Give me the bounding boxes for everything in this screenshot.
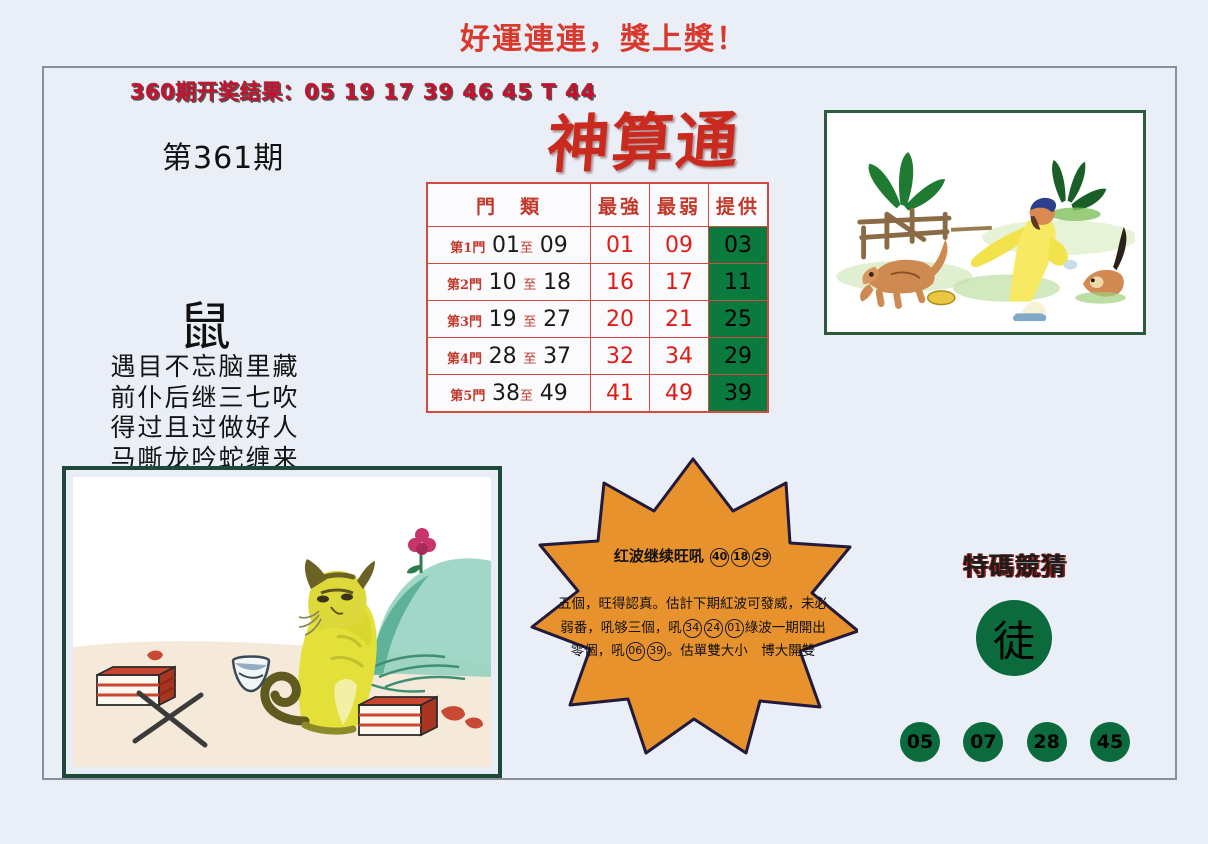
cell-weakest: 09 [650, 227, 709, 264]
starburst-body: 五個，旺得認真。估計下期紅波可發威，未必 弱番，吼够三個，吼342401綠波一期… [534, 593, 852, 664]
gate-label: 第1門 [450, 241, 485, 256]
body-number: 24 [704, 619, 723, 638]
table-row: 第2門 10 至 18 16 17 11 [427, 264, 768, 301]
table-row: 第5門 38至 49 41 49 39 [427, 375, 768, 413]
body-line-3: 零個，吼0639。估單雙大小 博大開雙 [534, 640, 852, 664]
scene-cat [73, 477, 491, 767]
table-header-row: 門 類 最強 最弱 提供 [427, 183, 768, 227]
cell-strongest: 01 [591, 227, 650, 264]
cell-provide: 39 [709, 375, 769, 413]
issue-number: 第361期 [162, 133, 284, 177]
range-from: 28 [489, 344, 517, 369]
body-number: 01 [725, 619, 744, 638]
cell-strongest: 32 [591, 338, 650, 375]
number-ball: 28 [1027, 722, 1067, 762]
gate-label: 第2門 [447, 278, 482, 293]
body-line-2: 弱番，吼够三個，吼342401綠波一期開出 [534, 617, 852, 641]
range-separator: 至 [520, 241, 533, 256]
body-line-1: 五個，旺得認真。估計下期紅波可發威，未必 [534, 593, 852, 617]
poem-line-3: 得过且过做好人 [0, 413, 410, 444]
cell-category: 第3門 19 至 27 [427, 301, 591, 338]
header-strongest: 最強 [591, 183, 650, 227]
range-to: 09 [540, 233, 568, 258]
range-to: 18 [543, 270, 571, 295]
table-row: 第1門 01至 09 01 09 03 [427, 227, 768, 264]
cell-weakest: 49 [650, 375, 709, 413]
table-row: 第4門 28 至 37 32 34 29 [427, 338, 768, 375]
cell-category: 第2門 10 至 18 [427, 264, 591, 301]
cell-weakest: 17 [650, 264, 709, 301]
zodiac-animal: 鼠 [0, 285, 410, 360]
header-category: 門 類 [427, 183, 591, 227]
draw-result-label: 360期开奖结果： [130, 80, 304, 104]
range-to: 49 [540, 381, 568, 406]
gate-label: 第3門 [447, 315, 482, 330]
range-from: 19 [489, 307, 517, 332]
draw-result-line: 360期开奖结果：05 19 17 39 46 45 T 44 [130, 76, 596, 106]
range-separator: 至 [523, 352, 536, 367]
illustration-bottom-left [62, 466, 502, 778]
range-to: 37 [543, 344, 571, 369]
cell-strongest: 20 [591, 301, 650, 338]
cell-provide: 03 [709, 227, 769, 264]
range-from: 38 [492, 381, 520, 406]
brand-logo: 神算通 [544, 90, 744, 185]
range-from: 10 [489, 270, 517, 295]
body-number: 39 [647, 642, 666, 661]
body-text: 。估單雙大小 博大開雙 [667, 643, 816, 659]
headline-number: 18 [731, 548, 750, 567]
gate-table: 門 類 最強 最弱 提供 第1門 01至 09 01 09 03 第2門 10 … [426, 182, 769, 413]
headline-label: 红波继续旺吼 [614, 547, 704, 565]
cell-category: 第1門 01至 09 [427, 227, 591, 264]
special-code-title: 特碼競猜 [900, 547, 1130, 583]
top-banner-title: 好運連連，獎上獎！ [0, 14, 1208, 58]
poster-page: 好運連連，獎上獎！ 360期开奖结果：05 19 17 39 46 45 T 4… [0, 0, 1208, 844]
starburst-text: 红波继续旺吼 401829 五個，旺得認真。估計下期紅波可發威，未必 弱番，吼够… [528, 455, 858, 755]
illustration-canvas [835, 121, 1135, 324]
starburst-callout: 红波继续旺吼 401829 五個，旺得認真。估計下期紅波可發威，未必 弱番，吼够… [528, 455, 858, 755]
lucky-number-balls: 05 07 28 45 [900, 722, 1130, 762]
illustration-canvas [73, 477, 491, 767]
cell-strongest: 41 [591, 375, 650, 413]
gate-label: 第5門 [450, 389, 485, 404]
body-text: 五個，旺得認真。估計下期紅波可發威，未必 [558, 596, 828, 612]
range-to: 27 [543, 307, 571, 332]
body-number: 34 [683, 619, 702, 638]
range-from: 01 [492, 233, 520, 258]
cell-weakest: 21 [650, 301, 709, 338]
illustration-top-right [824, 110, 1146, 335]
gate-label: 第4門 [447, 352, 482, 367]
body-number: 06 [626, 642, 645, 661]
range-separator: 至 [520, 389, 533, 404]
starburst-headline: 红波继续旺吼 401829 [528, 545, 858, 567]
number-ball: 07 [963, 722, 1003, 762]
body-text: 綠波一期開出 [745, 620, 826, 636]
range-separator: 至 [523, 278, 536, 293]
cell-category: 第5門 38至 49 [427, 375, 591, 413]
cell-weakest: 34 [650, 338, 709, 375]
special-code-circle: 徒 [976, 600, 1052, 676]
cell-strongest: 16 [591, 264, 650, 301]
range-separator: 至 [523, 315, 536, 330]
table-row: 第3門 19 至 27 20 21 25 [427, 301, 768, 338]
body-text: 零個，吼 [571, 643, 625, 659]
gate-table-wrapper: 門 類 最強 最弱 提供 第1門 01至 09 01 09 03 第2門 10 … [426, 182, 769, 413]
header-weakest: 最弱 [650, 183, 709, 227]
scene-man-and-dog [835, 121, 1135, 324]
headline-number: 29 [752, 548, 771, 567]
header-provide: 提供 [709, 183, 769, 227]
number-ball: 45 [1090, 722, 1130, 762]
poem-line-1: 遇目不忘脑里藏 [0, 352, 410, 383]
cell-category: 第4門 28 至 37 [427, 338, 591, 375]
cell-provide: 11 [709, 264, 769, 301]
poem-block: 遇目不忘脑里藏 前仆后继三七吹 得过且过做好人 马嘶龙吟蛇缠来 [0, 352, 410, 474]
cell-provide: 25 [709, 301, 769, 338]
body-text: 弱番，吼够三個，吼 [560, 620, 682, 636]
headline-number: 40 [710, 548, 729, 567]
number-ball: 05 [900, 722, 940, 762]
cell-provide: 29 [709, 338, 769, 375]
poem-line-2: 前仆后继三七吹 [0, 383, 410, 414]
